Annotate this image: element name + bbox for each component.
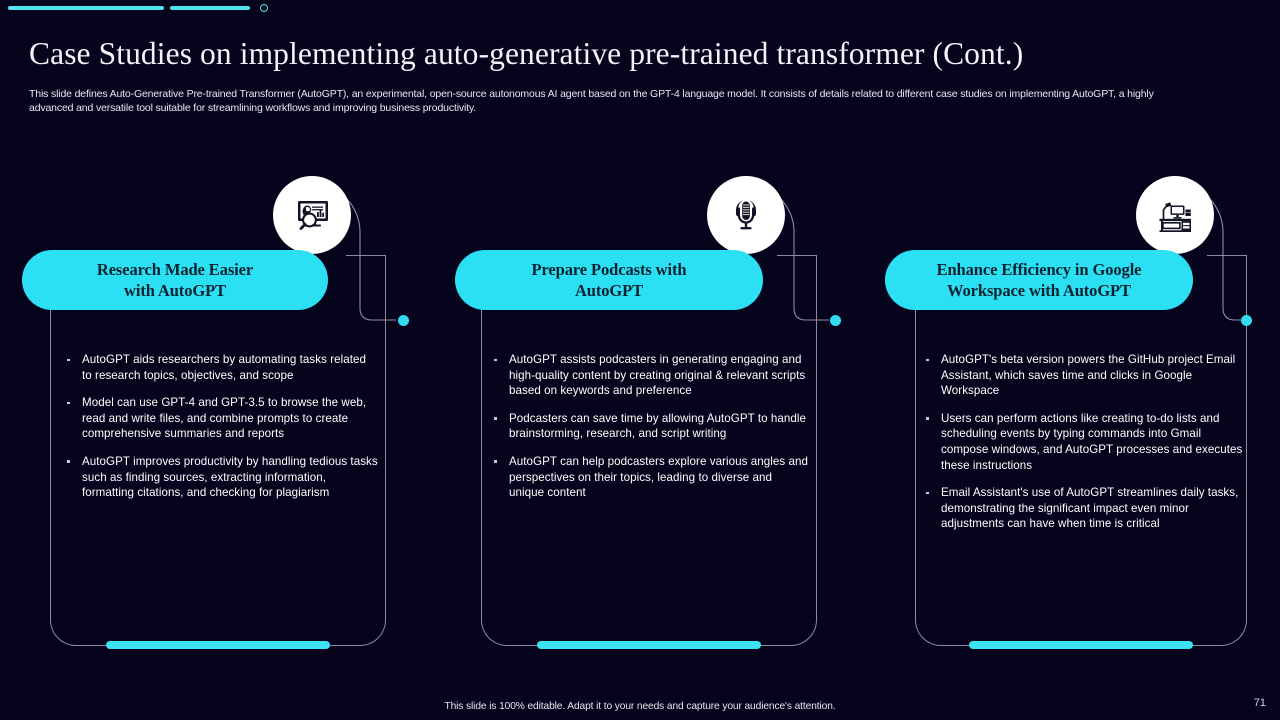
podcast-microphone-icon xyxy=(707,176,785,254)
list-item: Users can perform actions like creating … xyxy=(919,411,1247,473)
connector-end-dot-3 xyxy=(1241,315,1252,326)
list-item: Model can use GPT-4 and GPT-3.5 to brows… xyxy=(60,395,378,442)
connector-end-dot-1 xyxy=(398,315,409,326)
workspace-desk-computer-icon xyxy=(1136,176,1214,254)
card-bottom-accent-bar xyxy=(537,641,761,649)
card-title-pill-3[interactable]: Enhance Efficiency in GoogleWorkspace wi… xyxy=(885,250,1193,310)
decorative-bar-right xyxy=(170,6,250,10)
top-decoration-bar xyxy=(0,0,1280,18)
list-item: AutoGPT improves productivity by handlin… xyxy=(60,454,378,501)
list-item: Email Assistant's use of AutoGPT streaml… xyxy=(919,485,1247,532)
frame-top-stub xyxy=(346,255,386,256)
footer-note: This slide is 100% editable. Adapt it to… xyxy=(0,701,1280,712)
card-bottom-accent-bar xyxy=(969,641,1193,649)
frame-top-stub xyxy=(777,255,817,256)
card-title-pill-2[interactable]: Prepare Podcasts withAutoGPT xyxy=(455,250,763,310)
research-monitor-magnifier-icon xyxy=(273,176,351,254)
frame-top-stub xyxy=(1207,255,1247,256)
list-item: AutoGPT assists podcasters in generating… xyxy=(487,352,809,399)
bullet-list-2: AutoGPT assists podcasters in generating… xyxy=(487,352,809,513)
card-title-text-1: Research Made Easierwith AutoGPT xyxy=(97,259,253,301)
decorative-ring-icon xyxy=(260,4,268,12)
case-study-columns: Research Made Easierwith AutoGPT AutoGPT… xyxy=(0,160,1280,660)
case-study-card-3: Enhance Efficiency in GoogleWorkspace wi… xyxy=(885,160,1277,660)
page-subtitle: This slide defines Auto-Generative Pre-t… xyxy=(29,87,1194,115)
card-bottom-accent-bar xyxy=(106,641,330,649)
list-item: AutoGPT's beta version powers the GitHub… xyxy=(919,352,1247,399)
card-title-pill-1[interactable]: Research Made Easierwith AutoGPT xyxy=(22,250,328,310)
page-title: Case Studies on implementing auto-genera… xyxy=(29,36,1249,72)
list-item: AutoGPT can help podcasters explore vari… xyxy=(487,454,809,501)
decorative-bar-left xyxy=(8,6,164,10)
card-title-text-3: Enhance Efficiency in GoogleWorkspace wi… xyxy=(937,259,1142,301)
case-study-card-2: Prepare Podcasts withAutoGPT AutoGPT ass… xyxy=(453,160,845,660)
list-item: Podcasters can save time by allowing Aut… xyxy=(487,411,809,442)
connector-end-dot-2 xyxy=(830,315,841,326)
bullet-list-1: AutoGPT aids researchers by automating t… xyxy=(60,352,378,513)
page-number: 71 xyxy=(1254,697,1266,709)
bullet-list-3: AutoGPT's beta version powers the GitHub… xyxy=(919,352,1247,544)
list-item: AutoGPT aids researchers by automating t… xyxy=(60,352,378,383)
card-title-text-2: Prepare Podcasts withAutoGPT xyxy=(532,259,687,301)
case-study-card-1: Research Made Easierwith AutoGPT AutoGPT… xyxy=(22,160,414,660)
